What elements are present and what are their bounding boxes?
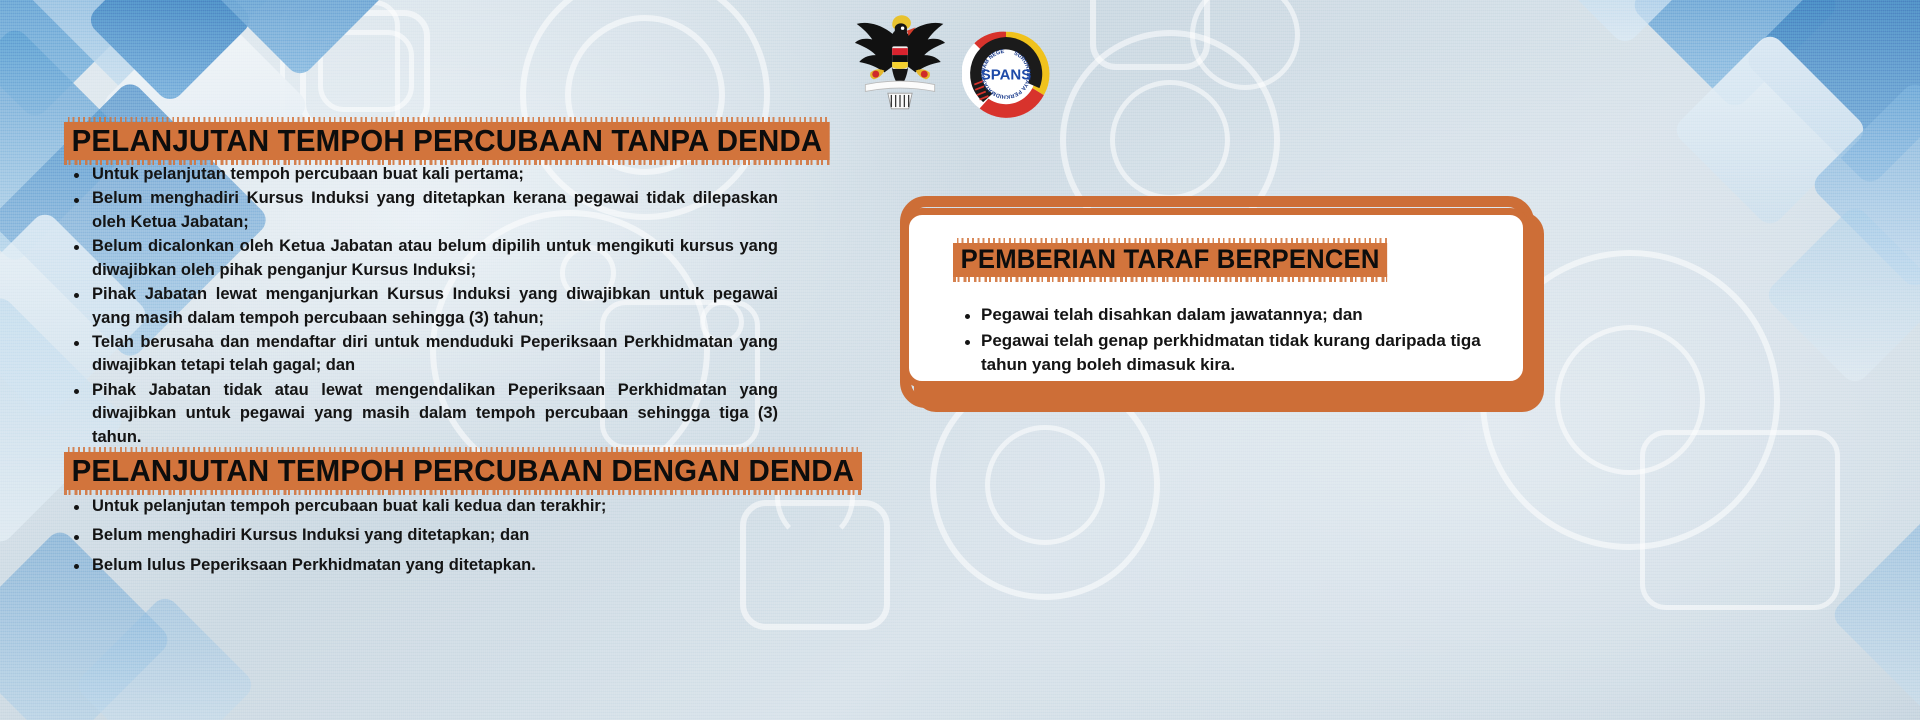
list-item: Belum dicalonkan oleh Ketua Jabatan atau…: [66, 235, 778, 282]
list-item: Telah berusaha dan mendaftar diri untuk …: [66, 331, 778, 378]
heading-pelanjutan-dengan-denda: PELANJUTAN TEMPOH PERCUBAAN DENGAN DENDA: [64, 452, 862, 490]
card-taraf-berpencen: PEMBERIAN TARAF BERPENCEN Pegawai telah …: [880, 170, 1560, 430]
heading-pemberian-taraf-berpencen: PEMBERIAN TARAF BERPENCEN: [953, 243, 1387, 277]
list-item: Untuk pelanjutan tempoh percubaan buat k…: [66, 163, 778, 186]
logo-group: SURUHANJAYA PERKHIDMATAN AWAM NEGERI SAR…: [840, 6, 1080, 118]
list-item: Untuk pelanjutan tempoh percubaan buat k…: [66, 495, 806, 518]
list-item: Pihak Jabatan tidak atau lewat mengendal…: [66, 379, 778, 449]
spans-logo-icon: SURUHANJAYA PERKHIDMATAN AWAM NEGERI SAR…: [962, 30, 1050, 118]
spans-wordmark: SPANS: [981, 66, 1031, 83]
list-item: Belum lulus Peperiksaan Perkhidmatan yan…: [66, 554, 806, 577]
bullet-list-taraf-berpencen: Pegawai telah disahkan dalam jawatannya;…: [957, 303, 1507, 379]
sarawak-state-crest-icon: [848, 10, 952, 114]
list-item: Pihak Jabatan lewat menganjurkan Kursus …: [66, 283, 778, 330]
list-item: Pegawai telah genap perkhidmatan tidak k…: [957, 329, 1507, 377]
card-body: PEMBERIAN TARAF BERPENCEN Pegawai telah …: [902, 208, 1530, 388]
list-item: Belum menghadiri Kursus Induksi yang dit…: [66, 187, 778, 234]
heading-pelanjutan-tanpa-denda: PELANJUTAN TEMPOH PERCUBAAN TANPA DENDA: [64, 122, 830, 160]
list-item: Belum menghadiri Kursus Induksi yang dit…: [66, 524, 806, 547]
bullet-list-tanpa-denda: Untuk pelanjutan tempoh percubaan buat k…: [66, 163, 778, 450]
bullet-list-dengan-denda: Untuk pelanjutan tempoh percubaan buat k…: [66, 495, 806, 583]
list-item: Pegawai telah disahkan dalam jawatannya;…: [957, 303, 1507, 327]
